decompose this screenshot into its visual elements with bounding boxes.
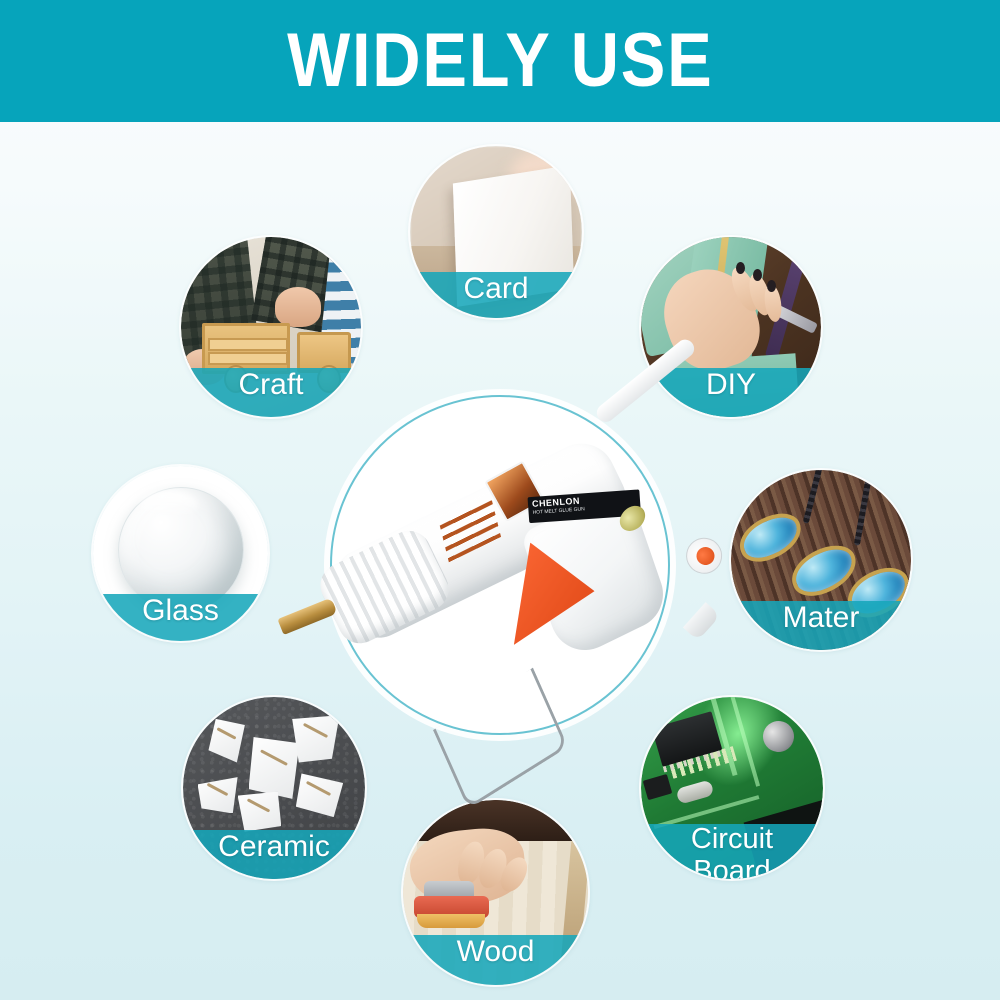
callout-mater-label: Mater bbox=[783, 603, 860, 634]
callout-mater-band: Mater bbox=[731, 601, 911, 650]
callout-craft-band: Craft bbox=[181, 368, 361, 417]
callout-card[interactable]: Card bbox=[410, 146, 582, 318]
callout-craft[interactable]: Craft bbox=[181, 237, 361, 417]
callout-mater[interactable]: Mater bbox=[731, 470, 911, 650]
callout-ceramic-label: Ceramic bbox=[218, 832, 330, 863]
callout-diy-band: DIY bbox=[641, 368, 821, 417]
callout-glass-label: Glass bbox=[142, 596, 219, 627]
callout-diy[interactable]: DIY bbox=[641, 237, 821, 417]
power-switch bbox=[679, 531, 729, 581]
handle-foot bbox=[683, 602, 721, 641]
center-product-circle bbox=[330, 395, 670, 735]
callout-glass[interactable]: Glass bbox=[93, 466, 268, 641]
infographic-page: WIDELY USE Card bbox=[0, 0, 1000, 1000]
callout-glass-band: Glass bbox=[93, 594, 268, 641]
callout-wood-label: Wood bbox=[457, 937, 535, 968]
callout-craft-label: Craft bbox=[238, 370, 303, 401]
callout-card-band: Card bbox=[410, 272, 582, 318]
callout-wood-band: Wood bbox=[403, 935, 588, 985]
callout-circuit-board[interactable]: Circuit Board bbox=[641, 697, 823, 879]
callout-card-label: Card bbox=[463, 274, 528, 305]
brass-nozzle bbox=[277, 598, 337, 635]
callout-circuit-board-label: Circuit Board bbox=[691, 824, 773, 879]
page-title: WIDELY USE bbox=[287, 23, 713, 99]
callout-diy-label: DIY bbox=[706, 370, 756, 401]
callout-ceramic-band: Ceramic bbox=[183, 830, 365, 879]
callout-ceramic[interactable]: Ceramic bbox=[183, 697, 365, 879]
header-band: WIDELY USE bbox=[0, 0, 1000, 122]
callout-circuit-board-band: Circuit Board bbox=[641, 824, 823, 879]
callout-wood[interactable]: Wood bbox=[403, 800, 588, 985]
